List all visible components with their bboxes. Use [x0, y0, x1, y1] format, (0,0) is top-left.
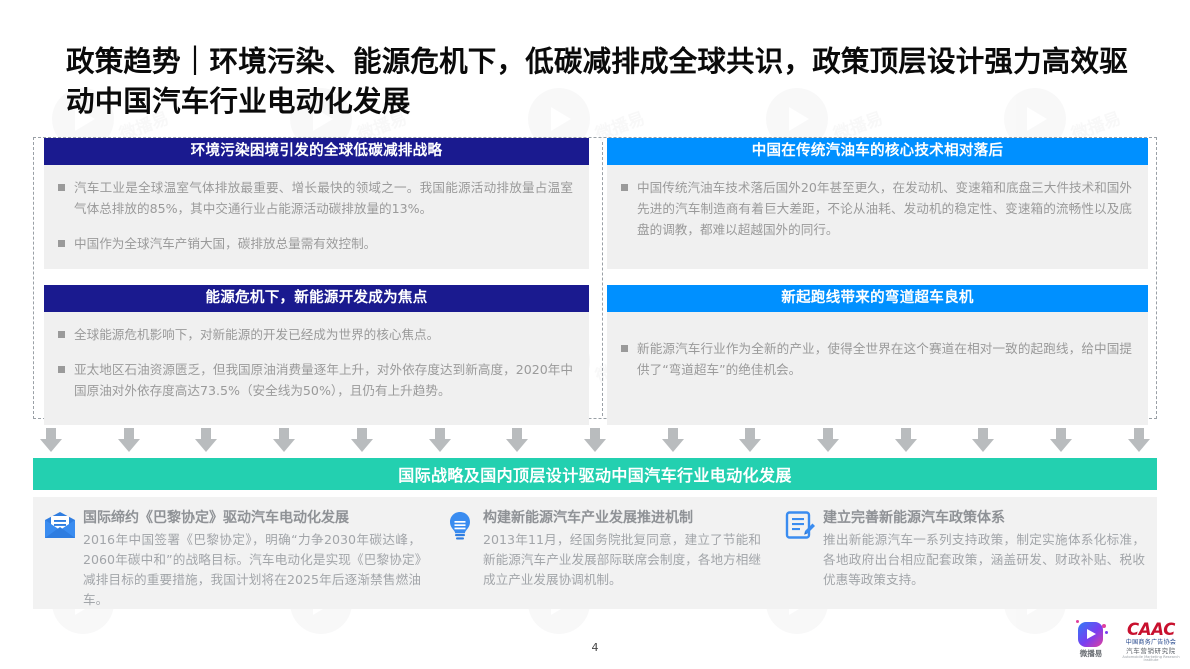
play-button-icon [1078, 622, 1103, 647]
panel-energy-crisis: 能源危机下，新能源开发成为焦点 全球能源危机影响下，对新能源的开发已经成为世界的… [44, 285, 589, 425]
panel-header: 能源危机下，新能源开发成为焦点 [44, 285, 589, 312]
lightbulb-icon [443, 509, 477, 543]
policy-card-policy-system: 建立完善新能源汽车政策体系 推出新能源汽车一系列支持政策，制定实施体系化标准，各… [773, 497, 1157, 609]
card-title: 建立完善新能源汽车政策体系 [823, 508, 1145, 528]
arrow-down-icon [1128, 428, 1150, 452]
caac-logo-sub1: 中国商务广告协会 [1120, 640, 1182, 646]
left-column: 环境污染困境引发的全球低碳减排战略 汽车工业是全球温室气体排放最重要、增长最快的… [44, 138, 589, 418]
panel-body: 中国传统汽油车技术落后国外20年甚至更久，在发动机、变速箱和底盘三大件技术和国外… [607, 165, 1148, 269]
weiboyi-logo-text: 微播易 [1069, 648, 1113, 659]
card-title: 构建新能源汽车产业发展推进机制 [483, 508, 761, 528]
policy-cards-strip: 国际缔约《巴黎协定》驱动汽车电动化发展 2016年中国签署《巴黎协定》，明确“力… [33, 497, 1157, 609]
logo-dot [1076, 620, 1079, 623]
bullet-item: 中国作为全球汽车产销大国，碳排放总量需有效控制。 [58, 233, 573, 254]
arrow-down-icon [351, 428, 373, 452]
arrow-down-icon [895, 428, 917, 452]
strategy-banner: 国际战略及国内顶层设计驱动中国汽车行业电动化发展 [33, 458, 1157, 490]
page-title: 政策趋势｜环境污染、能源危机下，低碳减排成全球共识，政策顶层设计强力高效驱动中国… [66, 42, 1136, 122]
policy-card-paris-agreement: 国际缔约《巴黎协定》驱动汽车电动化发展 2016年中国签署《巴黎协定》，明确“力… [33, 497, 433, 609]
bullet-item: 亚太地区石油资源匮乏，但我国原油消费量逐年上升，对外依存度达到新高度，2020年… [58, 359, 573, 401]
card-text: 推出新能源汽车一系列支持政策，制定实施体系化标准，各地政府出台相应配套政策，涵盖… [823, 530, 1145, 590]
arrow-down-icon [273, 428, 295, 452]
bullet-item: 中国传统汽油车技术落后国外20年甚至更久，在发动机、变速箱和底盘三大件技术和国外… [621, 177, 1132, 240]
panel-header: 新起跑线带来的弯道超车良机 [607, 285, 1148, 312]
page-number: 4 [0, 641, 1190, 654]
footer-logos: 微播易 CAAC 中国商务广告协会 汽车营销研究院 Automobile Mar… [1069, 622, 1182, 663]
arrow-down-icon [972, 428, 994, 452]
arrow-row [40, 428, 1150, 454]
content-region: 环境污染困境引发的全球低碳减排战略 汽车工业是全球温室气体排放最重要、增长最快的… [33, 137, 1157, 419]
panel-body: 新能源汽车行业作为全新的产业，使得全世界在这个赛道在相对一致的起跑线，给中国提供… [607, 312, 1148, 425]
panel-pollution: 环境污染困境引发的全球低碳减排战略 汽车工业是全球温室气体排放最重要、增长最快的… [44, 138, 589, 269]
policy-card-industry-mechanism: 构建新能源汽车产业发展推进机制 2013年11月，经国务院批复同意，建立了节能和… [433, 497, 773, 609]
panel-header: 环境污染困境引发的全球低碳减排战略 [44, 138, 589, 165]
arrow-down-icon [817, 428, 839, 452]
logo-dot [1105, 631, 1108, 634]
panel-tech-gap: 中国在传统汽油车的核心技术相对落后 中国传统汽油车技术落后国外20年甚至更久，在… [607, 138, 1148, 269]
weiboyi-logo: 微播易 [1069, 622, 1113, 662]
panel-overtaking-opportunity: 新起跑线带来的弯道超车良机 新能源汽车行业作为全新的产业，使得全世界在这个赛道在… [607, 285, 1148, 425]
card-text: 2013年11月，经国务院批复同意，建立了节能和新能源汽车产业发展部际联席会制度… [483, 530, 761, 590]
panel-body: 汽车工业是全球温室气体排放最重要、增长最快的领域之一。我国能源活动排放量占温室气… [44, 165, 589, 269]
caac-logo-sub2: 汽车营销研究院 [1120, 648, 1182, 655]
card-text: 2016年中国签署《巴黎协定》，明确“力争2030年碳达峰，2060年碳中和”的… [83, 530, 421, 610]
caac-logo: CAAC 中国商务广告协会 汽车营销研究院 Automobile Marketi… [1120, 622, 1182, 663]
bullet-item: 新能源汽车行业作为全新的产业，使得全世界在这个赛道在相对一致的起跑线，给中国提供… [621, 338, 1132, 380]
caac-logo-main: CAAC [1120, 622, 1182, 639]
card-title: 国际缔约《巴黎协定》驱动汽车电动化发展 [83, 508, 421, 528]
logo-dot [1102, 624, 1106, 628]
document-pen-icon [783, 509, 817, 543]
slide-root: 微播易 微播易 微播易 微播易 微播易 微播易 微播易 政策趋势｜环境污染、能源… [0, 0, 1190, 669]
arrow-down-icon [739, 428, 761, 452]
arrow-down-icon [118, 428, 140, 452]
arrow-down-icon [1050, 428, 1072, 452]
column-divider [602, 142, 603, 416]
panel-header: 中国在传统汽油车的核心技术相对落后 [607, 138, 1148, 165]
panel-body: 全球能源危机影响下，对新能源的开发已经成为世界的核心焦点。 亚太地区石油资源匮乏… [44, 312, 589, 425]
arrow-down-icon [429, 428, 451, 452]
arrow-down-icon [40, 428, 62, 452]
arrow-down-icon [662, 428, 684, 452]
right-column: 中国在传统汽油车的核心技术相对落后 中国传统汽油车技术落后国外20年甚至更久，在… [607, 138, 1148, 418]
bullet-item: 全球能源危机影响下，对新能源的开发已经成为世界的核心焦点。 [58, 324, 573, 345]
arrow-down-icon [195, 428, 217, 452]
envelope-icon [43, 509, 77, 543]
caac-logo-sub3: Automobile Marketing Research Institute [1120, 656, 1182, 663]
bullet-item: 汽车工业是全球温室气体排放最重要、增长最快的领域之一。我国能源活动排放量占温室气… [58, 177, 573, 219]
arrow-down-icon [506, 428, 528, 452]
arrow-down-icon [584, 428, 606, 452]
